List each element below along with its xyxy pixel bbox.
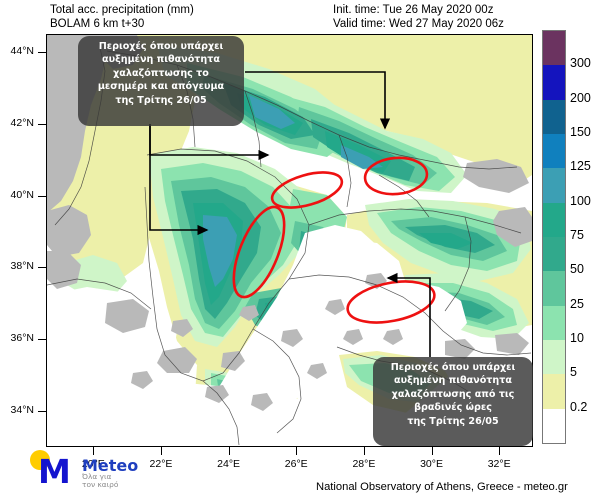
colorbar-segment-9 bbox=[543, 340, 565, 374]
annot-evening-line-5: της Τρίτης 26/05 bbox=[380, 415, 526, 428]
lat-label-40°N: 40°N bbox=[0, 189, 34, 201]
annot-noon-line-3: χαλαζόπτωσης το bbox=[85, 67, 237, 80]
lon-tick-32°E bbox=[499, 447, 500, 455]
colorbar-label-5: 5 bbox=[570, 365, 577, 379]
footer-credit: National Observatory of Athens, Greece -… bbox=[316, 481, 568, 493]
colorbar-label-125: 125 bbox=[570, 159, 591, 173]
lat-tick-40°N bbox=[38, 196, 46, 197]
annot-evening-line-4: βραδινές ώρες bbox=[380, 401, 526, 414]
annot-noon-line-2: αυξημένη πιθανότητα bbox=[85, 53, 237, 66]
colorbar-label-100: 100 bbox=[570, 194, 591, 208]
colorbar-segment-11 bbox=[543, 409, 565, 443]
annot-noon-line-4: μεσημέρι και απόγευμα bbox=[85, 80, 237, 93]
annot-evening-line-1: Περιοχές όπου υπάρχει bbox=[380, 361, 526, 374]
colorbar-segment-0 bbox=[543, 31, 565, 65]
lat-tick-38°N bbox=[38, 267, 46, 268]
lon-label-32°E: 32°E bbox=[477, 458, 521, 470]
lon-label-30°E: 30°E bbox=[410, 458, 454, 470]
annotation-noon[interactable]: Περιοχές όπου υπάρχειαυξημένη πιθανότητα… bbox=[78, 36, 244, 126]
lat-label-36°N: 36°N bbox=[0, 332, 34, 344]
lat-tick-36°N bbox=[38, 339, 46, 340]
lat-tick-44°N bbox=[38, 52, 46, 53]
lon-label-24°E: 24°E bbox=[207, 458, 251, 470]
lon-label-28°E: 28°E bbox=[342, 458, 386, 470]
lon-label-26°E: 26°E bbox=[274, 458, 318, 470]
meteo-logo[interactable]: M Meteo Όλα για τον καιρό bbox=[30, 448, 180, 488]
lat-label-34°N: 34°N bbox=[0, 404, 34, 416]
lon-tick-30°E bbox=[432, 447, 433, 455]
annot-evening-line-2: αυξημένη πιθανότητα bbox=[380, 374, 526, 387]
map-title-line1: Total acc. precipitation (mm) bbox=[50, 3, 194, 17]
colorbar-segment-4 bbox=[543, 168, 565, 202]
logo-tagline: Όλα για τον καιρό bbox=[82, 473, 118, 490]
valid-time: Valid time: Wed 27 May 2020 06z bbox=[333, 17, 504, 31]
colorbar-label-50: 50 bbox=[570, 262, 584, 276]
colorbar-label-25: 25 bbox=[570, 297, 584, 311]
lat-tick-42°N bbox=[38, 124, 46, 125]
colorbar-label-0.2: 0.2 bbox=[570, 400, 587, 414]
colorbar-label-75: 75 bbox=[570, 228, 584, 242]
precipitation-colorbar[interactable] bbox=[542, 30, 566, 444]
lat-label-38°N: 38°N bbox=[0, 260, 34, 272]
map-title: Total acc. precipitation (mm) BOLAM 6 km… bbox=[50, 3, 194, 31]
annot-evening-line-3: χαλαζόπτωσης από τις bbox=[380, 388, 526, 401]
colorbar-label-300: 300 bbox=[570, 56, 591, 70]
colorbar-segment-10 bbox=[543, 374, 565, 408]
colorbar-segment-5 bbox=[543, 203, 565, 237]
init-time: Init. time: Tue 26 May 2020 00z bbox=[333, 3, 504, 17]
colorbar-segment-8 bbox=[543, 306, 565, 340]
colorbar-label-10: 10 bbox=[570, 331, 584, 345]
map-title-line2: BOLAM 6 km t+30 bbox=[50, 17, 194, 31]
logo-tagline-line2: τον καιρό bbox=[82, 481, 118, 489]
lat-label-44°N: 44°N bbox=[0, 45, 34, 57]
colorbar-segment-1 bbox=[543, 65, 565, 99]
lat-label-42°N: 42°N bbox=[0, 117, 34, 129]
lon-tick-24°E bbox=[229, 447, 230, 455]
colorbar-segment-3 bbox=[543, 134, 565, 168]
colorbar-segment-2 bbox=[543, 100, 565, 134]
time-info: Init. time: Tue 26 May 2020 00z Valid ti… bbox=[333, 3, 504, 31]
colorbar-label-200: 200 bbox=[570, 91, 591, 105]
lat-tick-34°N bbox=[38, 411, 46, 412]
logo-m-icon: M bbox=[38, 455, 70, 488]
annot-noon-line-1: Περιοχές όπου υπάρχει bbox=[85, 40, 237, 53]
annot-noon-line-5: της Τρίτης 26/05 bbox=[85, 94, 237, 107]
lon-tick-26°E bbox=[296, 447, 297, 455]
lon-tick-28°E bbox=[364, 447, 365, 455]
colorbar-segment-6 bbox=[543, 237, 565, 271]
colorbar-label-150: 150 bbox=[570, 125, 591, 139]
colorbar-segment-7 bbox=[543, 271, 565, 305]
annotation-evening[interactable]: Περιοχές όπου υπάρχειαυξημένη πιθανότητα… bbox=[373, 357, 533, 446]
